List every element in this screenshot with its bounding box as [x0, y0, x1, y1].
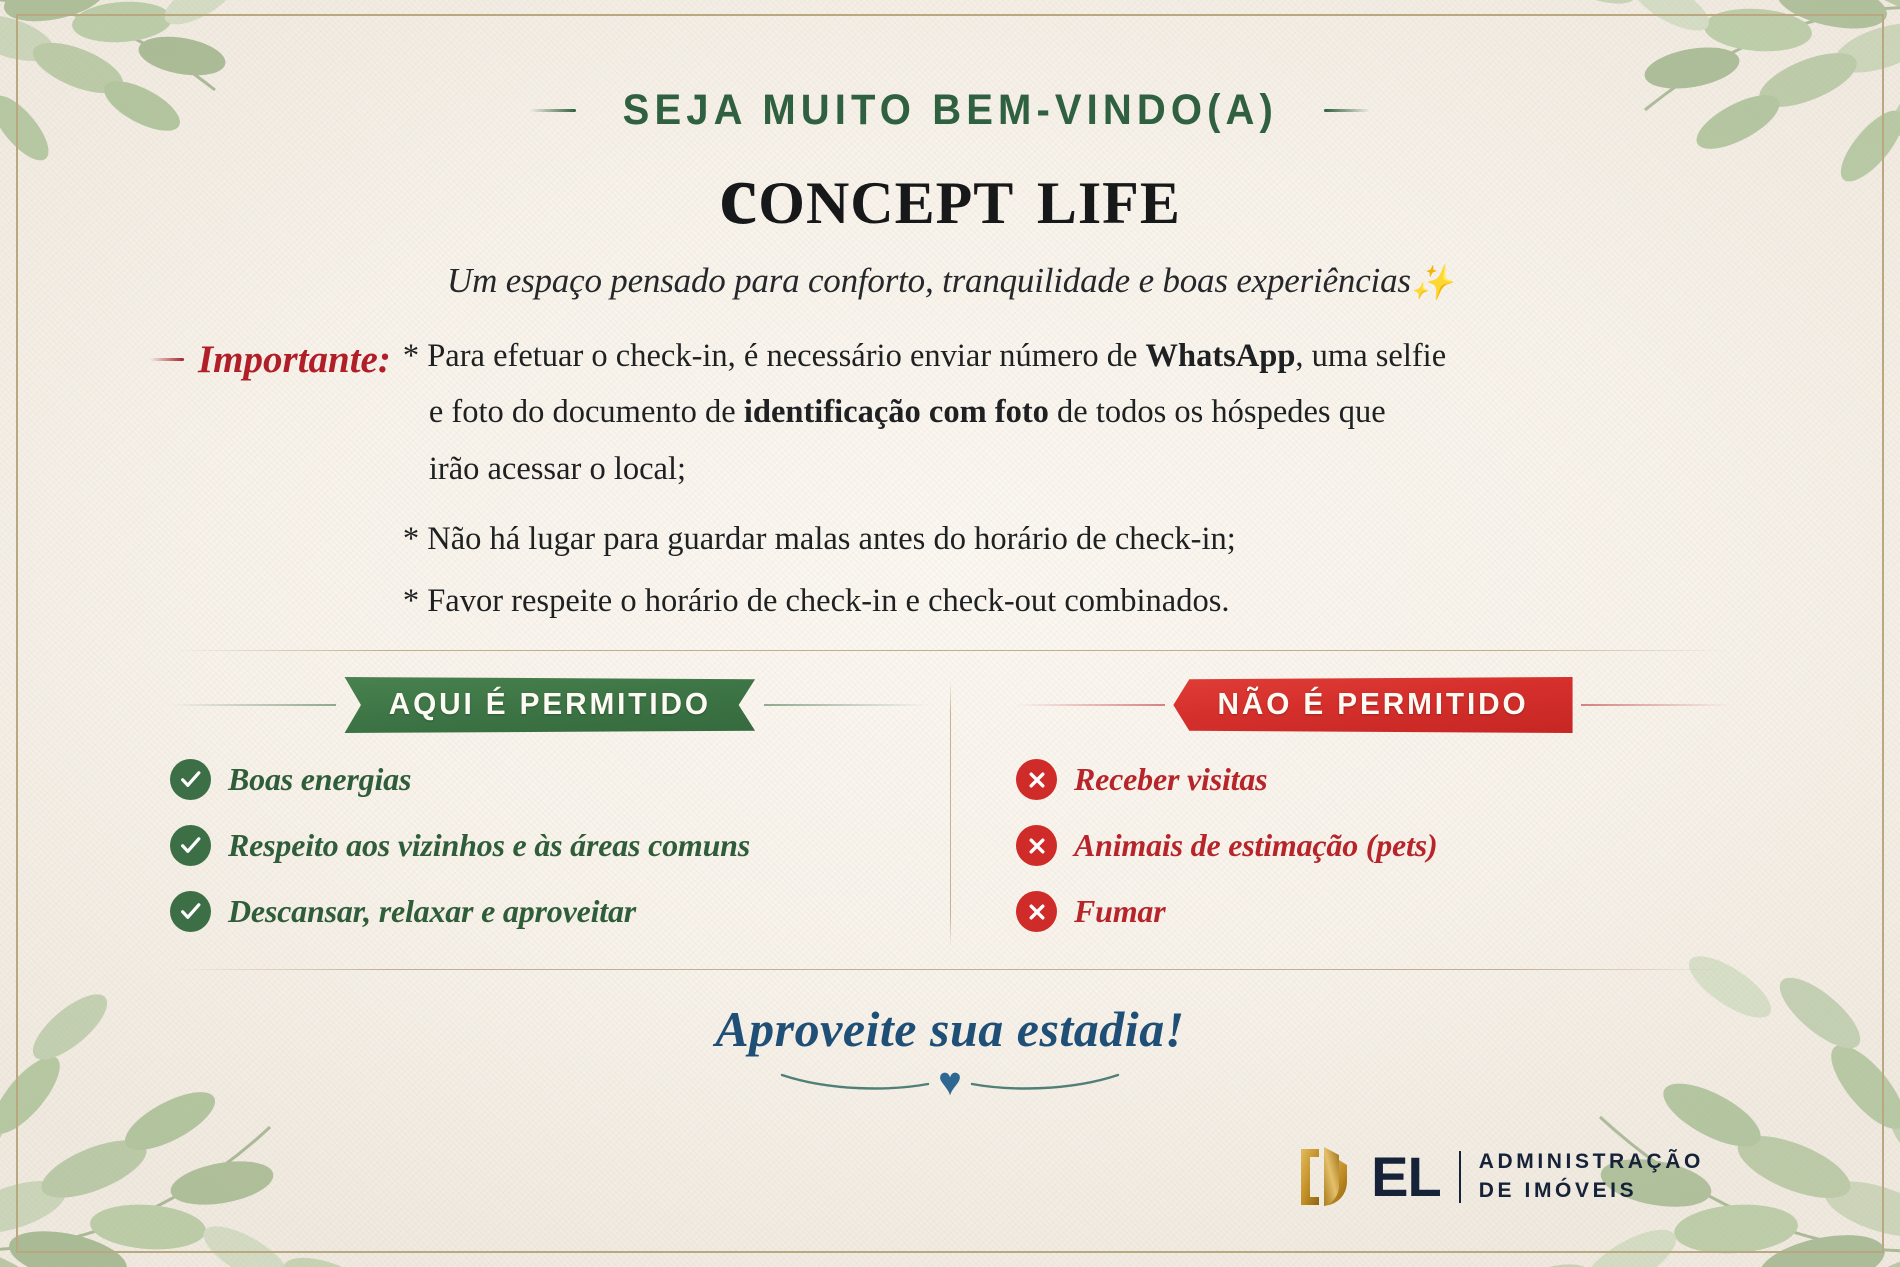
- important-item-list: * Para efetuar o check-in, é necessário …: [403, 333, 1750, 634]
- important-item-text: e foto do documento de identificação com…: [429, 394, 1386, 430]
- logo-subtitle-line2: DE IMÓVEIS: [1479, 1179, 1638, 1202]
- x-circle-icon: [1016, 891, 1057, 932]
- section-divider-top: [172, 650, 1728, 651]
- allowed-rule-right-icon: [764, 704, 930, 706]
- tagline-text: Um espaço pensado para conforto, tranqui…: [447, 261, 1411, 300]
- forbidden-banner-row: NÃO É PERMITIDO: [1016, 677, 1730, 733]
- poster-content: SEJA MUITO BEM-VINDO(A) Concept Life Um …: [0, 0, 1900, 1267]
- list-item: Fumar: [1016, 891, 1730, 932]
- list-item-label: Animais de estimação (pets): [1074, 827, 1437, 864]
- page-title: Concept Life: [150, 149, 1750, 239]
- important-label-group: Importante:: [150, 333, 391, 382]
- list-item: Boas energias: [170, 759, 930, 800]
- important-item: * Não há lugar para guardar malas antes …: [403, 516, 1750, 562]
- list-item: Animais de estimação (pets): [1016, 825, 1730, 866]
- important-item-text: * Favor respeite o horário de check-in e…: [403, 583, 1230, 619]
- logo-wordmark: EL: [1371, 1144, 1441, 1209]
- list-item-label: Descansar, relaxar e aproveitar: [228, 893, 636, 930]
- poster-canvas: SEJA MUITO BEM-VINDO(A) Concept Life Um …: [0, 0, 1900, 1267]
- closing-message: Aproveite sua estadia!: [150, 1000, 1750, 1058]
- heart-icon: ♥: [938, 1062, 962, 1102]
- allowed-list: Boas energias Respeito aos vizinhos e às…: [170, 759, 930, 932]
- important-item: irão acessar o local;: [403, 446, 1750, 492]
- list-item: Respeito aos vizinhos e às áreas comuns: [170, 825, 930, 866]
- list-item: Receber visitas: [1016, 759, 1730, 800]
- allowed-column: AQUI É PERMITIDO Boas energias R: [150, 677, 950, 957]
- forbidden-banner-label: NÃO É PERMITIDO: [1173, 677, 1572, 733]
- del-building-icon: [1297, 1145, 1363, 1209]
- list-item-label: Receber visitas: [1074, 761, 1267, 798]
- forbidden-list: Receber visitas Animais de estimação (pe…: [1016, 759, 1730, 932]
- logo-subtitle-line1: ADMINISTRAÇÃO: [1479, 1150, 1704, 1173]
- important-item-text: * Para efetuar o check-in, é necessário …: [403, 338, 1446, 374]
- list-item-label: Boas energias: [228, 761, 411, 798]
- heart-flourish: ♥: [150, 1062, 1750, 1102]
- important-label: Importante:: [198, 337, 391, 382]
- forbidden-rule-left-icon: [1016, 704, 1165, 706]
- important-item-text: * Não há lugar para guardar malas antes …: [403, 521, 1236, 557]
- important-item: * Para efetuar o check-in, é necessário …: [403, 333, 1750, 379]
- important-item: e foto do documento de identificação com…: [403, 389, 1750, 435]
- allowed-banner-label: AQUI É PERMITIDO: [345, 677, 756, 733]
- sparkle-icon: ✨: [1411, 265, 1453, 302]
- welcome-banner: SEJA MUITO BEM-VINDO(A): [150, 86, 1750, 135]
- list-item-label: Respeito aos vizinhos e às áreas comuns: [228, 827, 750, 864]
- list-item: Descansar, relaxar e aproveitar: [170, 891, 930, 932]
- flourish-left-icon: [780, 1071, 930, 1093]
- important-item-text: irão acessar o local;: [429, 451, 686, 487]
- check-circle-icon: [170, 759, 211, 800]
- important-rule-icon: [150, 358, 184, 361]
- allowed-banner-row: AQUI É PERMITIDO: [170, 677, 930, 733]
- company-logo: EL ADMINISTRAÇÃO DE IMÓVEIS: [1297, 1144, 1704, 1209]
- important-section: Importante: * Para efetuar o check-in, é…: [150, 333, 1750, 634]
- rules-columns: AQUI É PERMITIDO Boas energias R: [150, 677, 1750, 957]
- eyebrow-rule-left-icon: [530, 109, 576, 112]
- forbidden-column: NÃO É PERMITIDO Receber visitas: [950, 677, 1750, 957]
- forbidden-rule-right-icon: [1581, 704, 1730, 706]
- flourish-right-icon: [970, 1071, 1120, 1093]
- logo-divider: [1459, 1151, 1461, 1203]
- welcome-text: SEJA MUITO BEM-VINDO(A): [622, 86, 1277, 135]
- tagline: Um espaço pensado para conforto, tranqui…: [150, 261, 1750, 303]
- x-circle-icon: [1016, 759, 1057, 800]
- important-item: * Favor respeite o horário de check-in e…: [403, 578, 1750, 624]
- eyebrow-rule-right-icon: [1324, 109, 1370, 112]
- logo-subtitle: ADMINISTRAÇÃO DE IMÓVEIS: [1479, 1148, 1704, 1205]
- column-divider: [950, 681, 951, 947]
- check-circle-icon: [170, 891, 211, 932]
- list-item-label: Fumar: [1074, 893, 1166, 930]
- section-divider-bottom: [172, 969, 1728, 970]
- allowed-rule-left-icon: [170, 704, 336, 706]
- x-circle-icon: [1016, 825, 1057, 866]
- check-circle-icon: [170, 825, 211, 866]
